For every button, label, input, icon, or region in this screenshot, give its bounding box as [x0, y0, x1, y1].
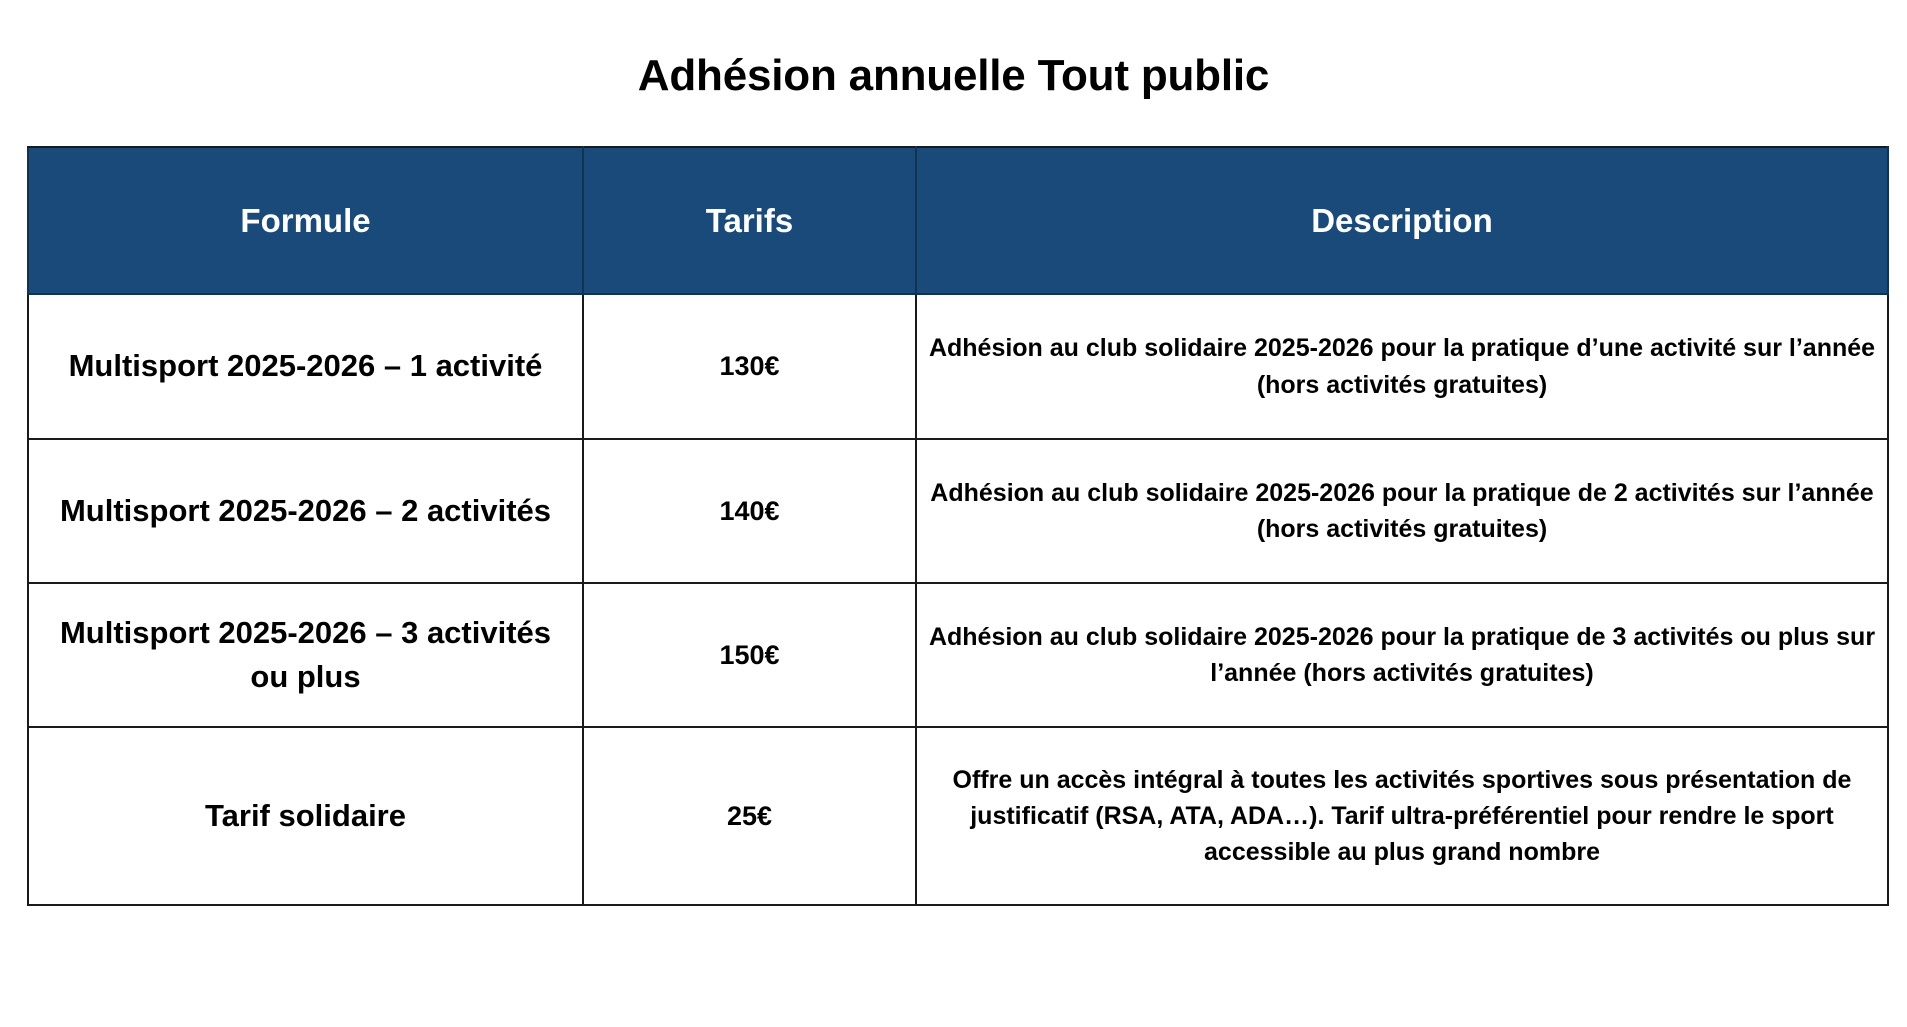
cell-tarif: 150€ [583, 583, 916, 727]
cell-formule: Tarif solidaire [28, 727, 583, 905]
cell-tarif: 130€ [583, 294, 916, 439]
page-root: Adhésion annuelle Tout public Formule Ta… [0, 0, 1907, 1027]
column-header-formule: Formule [28, 147, 583, 294]
table-header: Formule Tarifs Description [28, 147, 1888, 294]
cell-formule: Multisport 2025-2026 – 1 activité [28, 294, 583, 439]
table-header-row: Formule Tarifs Description [28, 147, 1888, 294]
column-header-tarifs: Tarifs [583, 147, 916, 294]
page-title: Adhésion annuelle Tout public [0, 51, 1907, 102]
cell-formule: Multisport 2025-2026 – 3 activités ou pl… [28, 583, 583, 727]
cell-description: Offre un accès intégral à toutes les act… [916, 727, 1888, 905]
column-header-description: Description [916, 147, 1888, 294]
table-row: Tarif solidaire 25€ Offre un accès intég… [28, 727, 1888, 905]
table-body: Multisport 2025-2026 – 1 activité 130€ A… [28, 294, 1888, 905]
cell-description: Adhésion au club solidaire 2025-2026 pou… [916, 439, 1888, 583]
cell-description: Adhésion au club solidaire 2025-2026 pou… [916, 583, 1888, 727]
cell-tarif: 25€ [583, 727, 916, 905]
cell-formule: Multisport 2025-2026 – 2 activités [28, 439, 583, 583]
table-row: Multisport 2025-2026 – 2 activités 140€ … [28, 439, 1888, 583]
table-row: Multisport 2025-2026 – 1 activité 130€ A… [28, 294, 1888, 439]
cell-description: Adhésion au club solidaire 2025-2026 pou… [916, 294, 1888, 439]
cell-tarif: 140€ [583, 439, 916, 583]
membership-pricing-table: Formule Tarifs Description Multisport 20… [27, 146, 1889, 906]
table-row: Multisport 2025-2026 – 3 activités ou pl… [28, 583, 1888, 727]
